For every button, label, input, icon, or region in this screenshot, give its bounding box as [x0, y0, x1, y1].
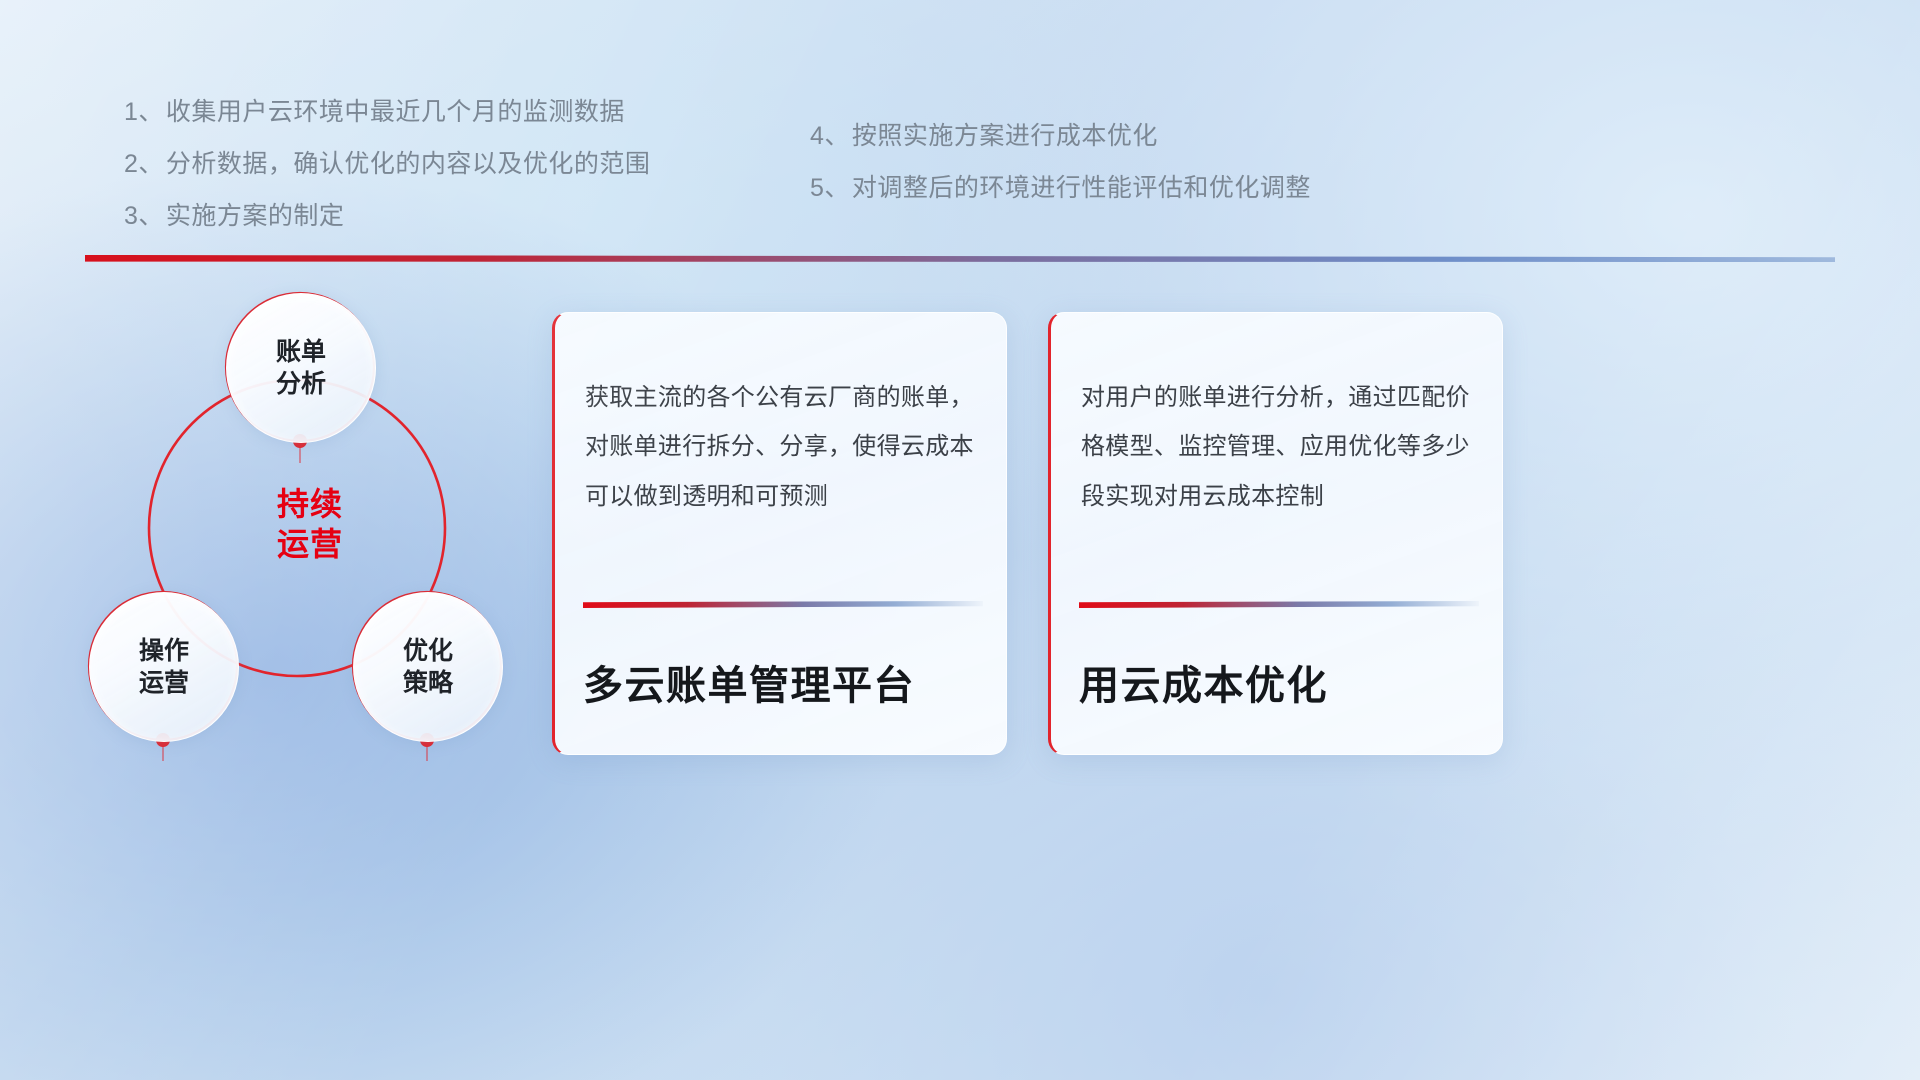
card-title: 用云成本优化 [1079, 653, 1482, 711]
step-text: 按照实施方案进行成本优化 [852, 122, 1158, 150]
venn-lobe-operations[interactable]: 操作 运营 [89, 592, 239, 742]
step-item: 4、按照实施方案进行成本优化 [810, 124, 1311, 149]
card-cloud-cost-optimization[interactable]: 对用户的账单进行分析，通过匹配价格模型、监控管理、应用优化等多少段实现对用云成本… [1048, 312, 1503, 755]
step-text: 收集用户云环境中最近几个月的监测数据 [166, 98, 625, 126]
lobe-label-line-2: 分析 [276, 368, 326, 400]
lobe-label-line-2: 策略 [403, 667, 453, 699]
step-number: 3、 [124, 202, 164, 230]
venn-lobe-optimization[interactable]: 优化 策略 [353, 592, 503, 742]
step-number: 4、 [810, 122, 850, 150]
lobe-label-line-1: 优化 [403, 635, 453, 667]
step-text: 分析数据，确认优化的内容以及优化的范围 [166, 150, 651, 178]
step-number: 2、 [124, 150, 164, 178]
step-item: 1、收集用户云环境中最近几个月的监测数据 [124, 100, 650, 125]
lobe-label-line-2: 运营 [139, 667, 189, 699]
step-item: 3、实施方案的制定 [124, 204, 650, 229]
lobe-label-line-1: 操作 [139, 635, 189, 667]
steps-list-left: 1、收集用户云环境中最近几个月的监测数据 2、分析数据，确认优化的内容以及优化的… [124, 100, 650, 256]
step-text: 实施方案的制定 [166, 202, 345, 230]
card-multi-cloud-billing-platform[interactable]: 获取主流的各个公有云厂商的账单，对账单进行拆分、分享，使得云成本可以做到透明和可… [552, 312, 1007, 755]
card-body-text: 获取主流的各个公有云厂商的账单，对账单进行拆分、分享，使得云成本可以做到透明和可… [585, 373, 982, 521]
card-divider-rule [1079, 601, 1479, 608]
venn-lobe-billing-analysis[interactable]: 账单 分析 [226, 293, 376, 443]
section-divider-rule [85, 255, 1835, 262]
steps-list-right: 4、按照实施方案进行成本优化 5、对调整后的环境进行性能评估和优化调整 [810, 124, 1311, 228]
step-number: 5、 [810, 174, 850, 202]
step-item: 5、对调整后的环境进行性能评估和优化调整 [810, 176, 1311, 201]
continuous-operations-diagram: 持续 运营 账单 分析 操作 运营 优化 策略 [75, 285, 545, 865]
step-item: 2、分析数据，确认优化的内容以及优化的范围 [124, 152, 650, 177]
step-text: 对调整后的环境进行性能评估和优化调整 [852, 174, 1311, 202]
step-number: 1、 [124, 98, 164, 126]
card-title: 多云账单管理平台 [583, 653, 986, 711]
lobe-label-line-1: 账单 [276, 336, 326, 368]
card-divider-rule [583, 601, 983, 608]
card-body-text: 对用户的账单进行分析，通过匹配价格模型、监控管理、应用优化等多少段实现对用云成本… [1081, 373, 1478, 521]
slide-background: 1、收集用户云环境中最近几个月的监测数据 2、分析数据，确认优化的内容以及优化的… [0, 0, 1920, 1080]
